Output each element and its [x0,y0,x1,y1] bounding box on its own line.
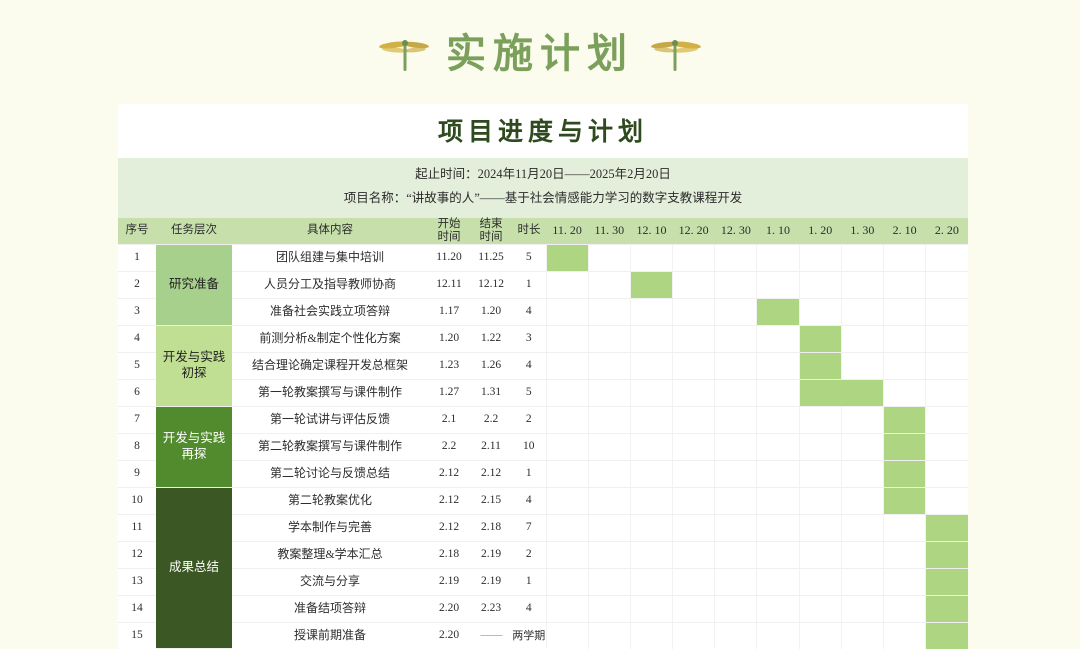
gantt-card: 项目进度与计划 起止时间：2024年11月20日——2025年2月20日 项目名… [118,104,968,649]
gantt-cell [673,541,715,568]
gantt-cell [546,487,588,514]
dragonfly-icon [378,34,432,74]
gantt-cell [757,514,799,541]
gantt-cell [673,514,715,541]
gantt-cell [884,568,926,595]
col-header-content: 具体内容 [232,218,428,245]
task-start-date: 2.2 [428,433,470,460]
gantt-cell [546,541,588,568]
task-content: 第二轮教案撰写与课件制作 [232,433,428,460]
task-end-date: 1.26 [470,352,512,379]
table-row[interactable]: 6第一轮教案撰写与课件制作1.271.315 [118,379,968,406]
tier-group-label: 开发与实践再探 [156,406,232,487]
gantt-cell [799,244,841,271]
task-end-date: 1.22 [470,325,512,352]
gantt-cell [673,487,715,514]
gantt-bar[interactable] [926,514,968,541]
task-content: 交流与分享 [232,568,428,595]
tier-label-line1: 开发与实践 [156,431,232,447]
gantt-cell [757,406,799,433]
gantt-bar[interactable] [926,595,968,622]
gantt-cell [630,487,672,514]
row-index: 12 [118,541,156,568]
gantt-cell [757,622,799,649]
gantt-cell [673,622,715,649]
gantt-cell [630,514,672,541]
task-start-date: 2.20 [428,595,470,622]
gantt-cell [884,271,926,298]
col-header-index: 序号 [118,218,156,245]
gantt-cell [715,595,757,622]
gantt-cell [757,379,799,406]
gantt-bar[interactable] [630,271,672,298]
col-header-end-line1: 结束 [470,218,512,231]
table-row[interactable]: 8第二轮教案撰写与课件制作2.22.1110 [118,433,968,460]
task-content: 结合理论确定课程开发总框架 [232,352,428,379]
gantt-cell [630,379,672,406]
gantt-cell [630,298,672,325]
gantt-cell [757,460,799,487]
table-row[interactable]: 10成果总结第二轮教案优化2.122.154 [118,487,968,514]
task-end-date: 1.20 [470,298,512,325]
row-index: 4 [118,325,156,352]
gantt-cell [715,433,757,460]
task-start-date: 2.12 [428,514,470,541]
gantt-cell [841,541,883,568]
task-end-date: 2.15 [470,487,512,514]
gantt-cell [841,325,883,352]
gantt-cell [715,352,757,379]
gantt-cell [841,433,883,460]
gantt-cell [546,379,588,406]
tier-label-line2: 初探 [156,366,232,382]
gantt-cell [926,433,968,460]
tier-group-label: 成果总结 [156,487,232,649]
col-header-end: 结束 时间 [470,218,512,245]
gantt-cell [926,271,968,298]
gantt-table-head: 序号 任务层次 具体内容 开始 时间 结束 时间 时长 11. 2011. 30… [118,218,968,245]
gantt-cell [546,298,588,325]
row-index: 2 [118,271,156,298]
task-duration: 2 [512,406,546,433]
gantt-cell [588,487,630,514]
gantt-cell [588,514,630,541]
row-index: 14 [118,595,156,622]
gantt-cell [799,433,841,460]
gantt-cell [673,433,715,460]
col-header-duration: 时长 [512,218,546,245]
gantt-cell [841,595,883,622]
gantt-cell [630,541,672,568]
task-end-date: 2.23 [470,595,512,622]
gantt-cell [841,568,883,595]
gantt-cell [841,460,883,487]
task-content: 第二轮教案优化 [232,487,428,514]
task-end-date: 2.11 [470,433,512,460]
task-end-date: 2.18 [470,514,512,541]
gantt-cell [926,325,968,352]
task-duration: 4 [512,352,546,379]
table-header-row: 序号 任务层次 具体内容 开始 时间 结束 时间 时长 11. 2011. 30… [118,218,968,245]
col-header-date-6: 1. 20 [799,218,841,245]
gantt-cell [546,595,588,622]
gantt-cell [841,406,883,433]
task-end-date: 2.19 [470,541,512,568]
task-start-date: 11.20 [428,244,470,271]
gantt-cell [757,271,799,298]
col-header-date-4: 12. 30 [715,218,757,245]
tier-label-line1: 开发与实践 [156,350,232,366]
gantt-cell [630,244,672,271]
col-header-date-0: 11. 20 [546,218,588,245]
task-content: 第一轮教案撰写与课件制作 [232,379,428,406]
col-header-date-8: 2. 10 [884,218,926,245]
gantt-cell [715,568,757,595]
gantt-cell [630,433,672,460]
task-start-date: 2.20 [428,622,470,649]
task-start-date: 2.12 [428,487,470,514]
row-index: 8 [118,433,156,460]
gantt-cell [588,352,630,379]
gantt-cell [588,433,630,460]
task-duration: 1 [512,271,546,298]
gantt-cell [588,622,630,649]
project-date-range: 起止时间：2024年11月20日——2025年2月20日 [118,162,968,186]
gantt-cell [884,352,926,379]
gantt-cell [884,379,926,406]
table-row[interactable]: 13交流与分享2.192.191 [118,568,968,595]
task-content: 教案整理&学本汇总 [232,541,428,568]
col-header-tier: 任务层次 [156,218,232,245]
gantt-cell [546,325,588,352]
gantt-cell [926,352,968,379]
task-duration: 3 [512,325,546,352]
gantt-cell [799,514,841,541]
task-content: 学本制作与完善 [232,514,428,541]
task-content: 前测分析&制定个性化方案 [232,325,428,352]
task-content: 第一轮试讲与评估反馈 [232,406,428,433]
task-start-date: 2.12 [428,460,470,487]
row-index: 7 [118,406,156,433]
task-end-date: 11.25 [470,244,512,271]
gantt-cell [588,271,630,298]
task-duration: 1 [512,460,546,487]
gantt-bar[interactable] [926,541,968,568]
task-duration: 7 [512,514,546,541]
gantt-cell [841,487,883,514]
gantt-bar[interactable] [884,406,926,433]
gantt-cell [884,541,926,568]
gantt-cell [841,244,883,271]
gantt-cell [926,406,968,433]
gantt-cell [588,595,630,622]
gantt-cell [884,298,926,325]
gantt-cell [884,244,926,271]
row-index: 5 [118,352,156,379]
table-row[interactable]: 9第二轮讨论与反馈总结2.122.121 [118,460,968,487]
gantt-cell [630,352,672,379]
task-duration: 10 [512,433,546,460]
gantt-cell [757,244,799,271]
gantt-cell [588,325,630,352]
task-content: 授课前期准备 [232,622,428,649]
gantt-cell [630,568,672,595]
col-header-end-line2: 时间 [470,231,512,244]
gantt-cell [546,568,588,595]
gantt-cell [630,595,672,622]
table-row[interactable]: 12教案整理&学本汇总2.182.192 [118,541,968,568]
task-start-date: 2.18 [428,541,470,568]
gantt-cell [715,487,757,514]
gantt-cell [715,541,757,568]
gantt-cell [884,325,926,352]
tier-group-label: 开发与实践初探 [156,325,232,406]
task-start-date: 12.11 [428,271,470,298]
tier-label-line2: 再探 [156,447,232,463]
task-end-date: 2.19 [470,568,512,595]
row-index: 1 [118,244,156,271]
task-duration: 2 [512,541,546,568]
gantt-cell [799,271,841,298]
gantt-cell [715,325,757,352]
table-row[interactable]: 3准备社会实践立项答辩1.171.204 [118,298,968,325]
gantt-cell [715,298,757,325]
gantt-cell [926,244,968,271]
row-index: 9 [118,460,156,487]
gantt-cell [757,325,799,352]
gantt-cell [546,406,588,433]
task-start-date: 1.27 [428,379,470,406]
gantt-cell [546,460,588,487]
gantt-cell [926,487,968,514]
project-name: 项目名称：“讲故事的人”——基于社会情感能力学习的数字支教课程开发 [118,186,968,210]
gantt-cell [757,595,799,622]
gantt-cell [799,406,841,433]
gantt-cell [715,406,757,433]
gantt-cell [715,379,757,406]
gantt-cell [715,244,757,271]
gantt-table-body: 1研究准备团队组建与集中培训11.2011.2552人员分工及指导教师协商12.… [118,244,968,649]
gantt-cell [673,379,715,406]
table-row[interactable]: 15授课前期准备2.20——两学期 [118,622,968,649]
gantt-cell [757,352,799,379]
gantt-cell [546,433,588,460]
gantt-cell [799,595,841,622]
gantt-cell [673,244,715,271]
gantt-cell [546,271,588,298]
row-index: 13 [118,568,156,595]
gantt-bar[interactable] [546,244,588,271]
gantt-cell [546,622,588,649]
task-duration: 5 [512,244,546,271]
gantt-table: 序号 任务层次 具体内容 开始 时间 结束 时间 时长 11. 2011. 30… [118,218,968,649]
gantt-cell [673,298,715,325]
col-header-date-9: 2. 20 [926,218,968,245]
task-start-date: 1.20 [428,325,470,352]
gantt-cell [588,379,630,406]
gantt-cell [884,595,926,622]
table-row[interactable]: 1研究准备团队组建与集中培训11.2011.255 [118,244,968,271]
gantt-cell [630,460,672,487]
task-start-date: 2.1 [428,406,470,433]
task-end-date: 1.31 [470,379,512,406]
gantt-cell [757,487,799,514]
task-content: 人员分工及指导教师协商 [232,271,428,298]
task-duration: 5 [512,379,546,406]
task-duration: 1 [512,568,546,595]
gantt-cell [757,541,799,568]
dragonfly-icon [648,34,702,74]
task-end-date: 2.2 [470,406,512,433]
gantt-cell [630,622,672,649]
row-index: 6 [118,379,156,406]
gantt-cell [588,244,630,271]
task-content: 准备结项答辩 [232,595,428,622]
card-title: 项目进度与计划 [118,104,968,158]
gantt-cell [841,298,883,325]
gantt-cell [799,568,841,595]
gantt-cell [841,622,883,649]
gantt-cell [884,622,926,649]
gantt-cell [588,406,630,433]
gantt-cell [630,325,672,352]
table-row[interactable]: 7开发与实践再探第一轮试讲与评估反馈2.12.22 [118,406,968,433]
gantt-cell [588,568,630,595]
page-title: 实施计划 [446,34,634,74]
gantt-cell [841,514,883,541]
row-index: 15 [118,622,156,649]
gantt-cell [799,460,841,487]
gantt-bar[interactable] [757,298,799,325]
gantt-cell [926,379,968,406]
col-header-start-line2: 时间 [428,231,470,244]
gantt-cell [630,406,672,433]
gantt-bar[interactable] [884,460,926,487]
gantt-cell [799,298,841,325]
col-header-date-1: 11. 30 [588,218,630,245]
gantt-bar[interactable] [884,433,926,460]
gantt-cell [715,271,757,298]
gantt-cell [588,298,630,325]
table-row[interactable]: 11学本制作与完善2.122.187 [118,514,968,541]
gantt-cell [757,568,799,595]
gantt-bar[interactable] [884,487,926,514]
gantt-cell [799,622,841,649]
col-header-date-7: 1. 30 [841,218,883,245]
row-index: 10 [118,487,156,514]
gantt-cell [799,487,841,514]
gantt-cell [588,541,630,568]
gantt-bar[interactable] [799,352,841,379]
col-header-date-5: 1. 10 [757,218,799,245]
gantt-cell [926,460,968,487]
task-content: 第二轮讨论与反馈总结 [232,460,428,487]
table-row[interactable]: 2人员分工及指导教师协商12.1112.121 [118,271,968,298]
gantt-cell [841,271,883,298]
task-start-date: 1.23 [428,352,470,379]
gantt-cell [546,514,588,541]
gantt-cell [926,298,968,325]
task-content: 准备社会实践立项答辩 [232,298,428,325]
col-header-start: 开始 时间 [428,218,470,245]
tier-group-label: 研究准备 [156,244,232,325]
gantt-cell [715,514,757,541]
task-start-date: 2.19 [428,568,470,595]
slide-title-bar: 实施计划 [0,34,1080,74]
gantt-cell [884,514,926,541]
gantt-cell [673,406,715,433]
gantt-cell [588,460,630,487]
gantt-cell [715,460,757,487]
task-end-date: —— [470,622,512,649]
table-row[interactable]: 14准备结项答辩2.202.234 [118,595,968,622]
gantt-cell [673,271,715,298]
row-index: 3 [118,298,156,325]
gantt-cell [841,352,883,379]
gantt-cell [673,352,715,379]
gantt-bar[interactable] [799,379,883,406]
gantt-cell [673,568,715,595]
table-row[interactable]: 4开发与实践初探前测分析&制定个性化方案1.201.223 [118,325,968,352]
task-duration: 4 [512,487,546,514]
task-end-date: 2.12 [470,460,512,487]
gantt-cell [757,433,799,460]
task-duration: 4 [512,595,546,622]
meta-band: 起止时间：2024年11月20日——2025年2月20日 项目名称：“讲故事的人… [118,158,968,218]
task-duration: 4 [512,298,546,325]
gantt-cell [673,595,715,622]
gantt-cell [715,622,757,649]
task-duration: 两学期 [512,622,546,649]
gantt-cell [546,352,588,379]
gantt-bar[interactable] [926,568,968,595]
col-header-date-2: 12. 10 [630,218,672,245]
gantt-cell [673,325,715,352]
gantt-bar[interactable] [926,622,968,649]
task-content: 团队组建与集中培训 [232,244,428,271]
task-end-date: 12.12 [470,271,512,298]
col-header-start-line1: 开始 [428,218,470,231]
task-start-date: 1.17 [428,298,470,325]
col-header-date-3: 12. 20 [673,218,715,245]
table-row[interactable]: 5结合理论确定课程开发总框架1.231.264 [118,352,968,379]
gantt-cell [799,541,841,568]
gantt-cell [673,460,715,487]
row-index: 11 [118,514,156,541]
gantt-bar[interactable] [799,325,841,352]
